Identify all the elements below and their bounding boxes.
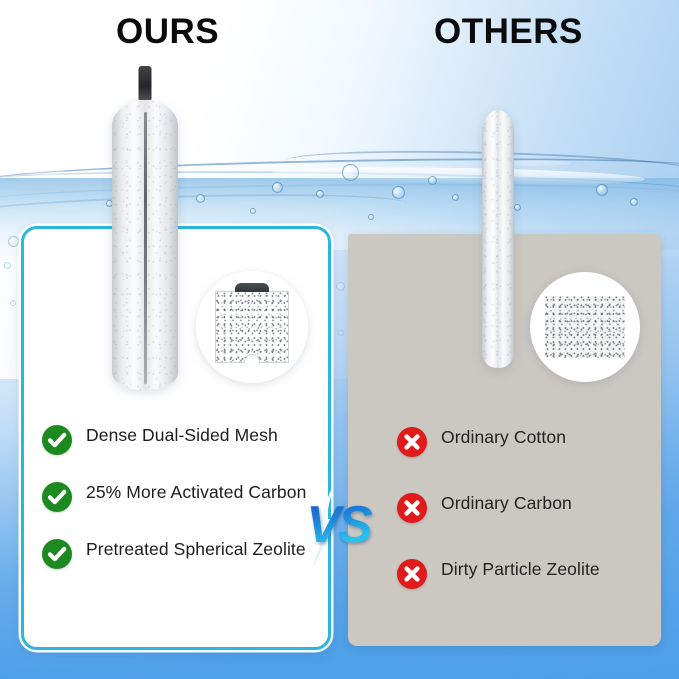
water-bubble	[10, 300, 16, 306]
water-bubble	[272, 182, 283, 193]
red-cross-icon	[397, 427, 427, 457]
heading-ours: OURS	[116, 12, 219, 52]
ours-feature-item: 25% More Activated Carbon	[42, 481, 332, 512]
heading-others: OTHERS	[434, 12, 583, 52]
ours-feature-label: Pretreated Spherical Zeolite	[86, 538, 306, 560]
green-check-icon	[42, 425, 72, 455]
mesh-pad-notch	[244, 354, 260, 363]
ours-filter-cartridge-image	[112, 100, 178, 390]
water-bubble	[368, 214, 374, 220]
mesh-pad-texture	[216, 292, 288, 362]
mesh-pad-texture	[545, 296, 625, 358]
vs-badge: VS	[295, 487, 381, 565]
water-bubble	[630, 198, 638, 206]
water-bubble	[452, 194, 459, 201]
others-feature-list: Ordinary Cotton Ordinary Carbon Dirty Pa…	[397, 426, 667, 624]
water-bubble	[338, 330, 344, 336]
water-bubble	[342, 164, 359, 181]
ours-feature-item: Dense Dual-Sided Mesh	[42, 424, 332, 455]
water-bubble	[596, 184, 608, 196]
water-bubble	[316, 190, 324, 198]
others-filter-cartridge-image	[482, 110, 514, 368]
water-bubble	[336, 282, 345, 291]
water-bubble	[428, 176, 437, 185]
ours-feature-list: Dense Dual-Sided Mesh 25% More Activated…	[42, 424, 332, 595]
water-bubble	[392, 186, 405, 199]
ours-feature-label: Dense Dual-Sided Mesh	[86, 424, 278, 446]
water-mist	[24, 168, 64, 175]
others-feature-label: Dirty Particle Zeolite	[441, 558, 600, 580]
ours-cartridge-tip	[139, 66, 152, 100]
water-bubble	[514, 204, 521, 211]
ours-mesh-closeup-inset	[196, 271, 308, 383]
water-bubble	[4, 262, 11, 269]
others-feature-item: Dirty Particle Zeolite	[397, 558, 667, 589]
green-check-icon	[42, 482, 72, 512]
ours-feature-item: Pretreated Spherical Zeolite	[42, 538, 332, 569]
cartridge-texture	[482, 110, 514, 368]
ours-mesh-pad	[215, 291, 289, 363]
others-mesh-closeup-inset	[530, 272, 640, 382]
ours-feature-label: 25% More Activated Carbon	[86, 481, 306, 503]
others-mesh-pad	[545, 296, 625, 358]
others-feature-item: Ordinary Cotton	[397, 426, 667, 457]
water-bubble	[8, 236, 19, 247]
comparison-infographic: OURS OTHERS Dense Du	[0, 0, 679, 679]
water-bubble	[250, 208, 256, 214]
red-cross-icon	[397, 559, 427, 589]
others-feature-label: Ordinary Carbon	[441, 492, 572, 514]
others-feature-label: Ordinary Cotton	[441, 426, 566, 448]
red-cross-icon	[397, 493, 427, 523]
vs-label: VS	[295, 495, 381, 555]
cartridge-seam	[144, 112, 147, 385]
water-bubble	[196, 194, 205, 203]
others-feature-item: Ordinary Carbon	[397, 492, 667, 523]
green-check-icon	[42, 539, 72, 569]
